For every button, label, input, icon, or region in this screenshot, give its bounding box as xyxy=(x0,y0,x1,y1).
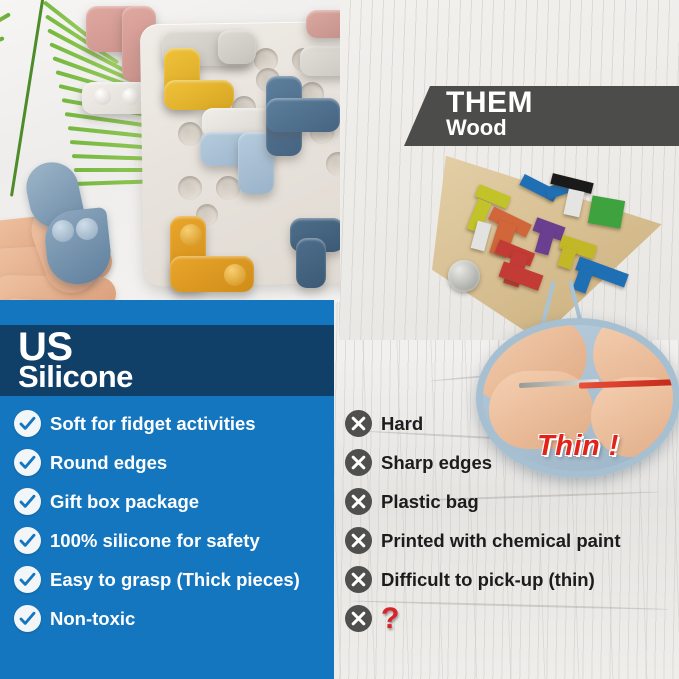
list-item: ? xyxy=(345,599,675,638)
list-item: Printed with chemical paint xyxy=(345,521,675,560)
infographic-canvas: THEM Wood Thin ! US Silicone Soft for fi… xyxy=(0,0,679,679)
list-item-label: Gift box package xyxy=(50,492,199,511)
cross-circle-icon xyxy=(345,605,372,632)
list-item-label: ? xyxy=(381,607,399,631)
list-item: 100% silicone for safety xyxy=(14,521,334,560)
piece-knob xyxy=(224,264,246,286)
list-item-label: Round edges xyxy=(50,453,167,472)
silicone-piece-grey xyxy=(218,30,256,64)
check-circle-icon xyxy=(14,410,41,437)
them-banner: THEM Wood xyxy=(404,86,679,146)
cross-circle-icon xyxy=(345,527,372,554)
list-item-label: Printed with chemical paint xyxy=(381,531,621,550)
silicone-puzzle-photo xyxy=(0,0,340,302)
list-item: Gift box package xyxy=(14,482,334,521)
them-title: THEM xyxy=(446,88,533,118)
silicone-piece-grey xyxy=(300,46,340,76)
cross-circle-icon xyxy=(345,449,372,476)
list-item-label: Difficult to pick-up (thin) xyxy=(381,570,595,589)
cross-circle-icon xyxy=(345,410,372,437)
list-item: Round edges xyxy=(14,443,334,482)
us-subtitle: Silicone xyxy=(18,361,133,392)
check-circle-icon xyxy=(14,566,41,593)
check-circle-icon xyxy=(14,527,41,554)
them-subtitle: Wood xyxy=(446,117,507,139)
list-item-label: Easy to grasp (Thick pieces) xyxy=(50,570,300,589)
us-header: US Silicone xyxy=(0,325,334,397)
cross-circle-icon xyxy=(345,488,372,515)
list-item: Plastic bag xyxy=(345,482,675,521)
list-item: Sharp edges xyxy=(345,443,675,482)
wood-piece xyxy=(588,195,625,228)
silicone-fidget-piece xyxy=(22,162,130,302)
silicone-piece-white xyxy=(82,82,150,114)
list-item: Difficult to pick-up (thin) xyxy=(345,560,675,599)
us-feature-list: Soft for fidget activities Round edges G… xyxy=(14,404,334,638)
list-item-label: 100% silicone for safety xyxy=(50,531,260,550)
list-item: Non-toxic xyxy=(14,599,334,638)
check-circle-icon xyxy=(14,488,41,515)
list-item-label: Plastic bag xyxy=(381,492,479,511)
check-circle-icon xyxy=(14,449,41,476)
piece-knob xyxy=(122,88,139,105)
list-item: Hard xyxy=(345,404,675,443)
check-circle-icon xyxy=(14,605,41,632)
list-item-label: Sharp edges xyxy=(381,453,492,472)
list-item-label: Soft for fidget activities xyxy=(50,414,256,433)
silicone-piece-darkblue xyxy=(266,98,340,132)
silicone-piece-darkblue xyxy=(296,238,326,288)
list-item: Easy to grasp (Thick pieces) xyxy=(14,560,334,599)
list-item: Soft for fidget activities xyxy=(14,404,334,443)
list-item-label: Hard xyxy=(381,414,423,433)
cross-circle-icon xyxy=(345,566,372,593)
them-feature-list: Hard Sharp edges Plastic bag Printed wit… xyxy=(345,404,675,638)
blue-accent-strip xyxy=(0,300,334,328)
list-item-label: Non-toxic xyxy=(50,609,135,628)
silicone-piece-pink xyxy=(306,10,340,38)
hand-holding-piece xyxy=(0,150,212,302)
silicone-piece-yellow xyxy=(164,80,234,110)
piece-knob xyxy=(94,88,111,105)
quarter-coin xyxy=(448,260,480,292)
